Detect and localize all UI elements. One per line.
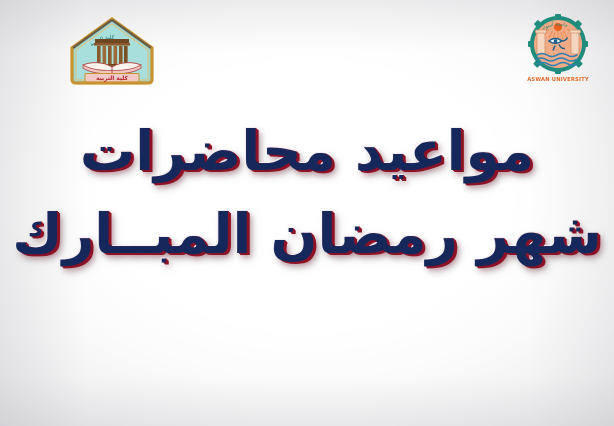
- slide-canvas: كلية التربية: [0, 0, 614, 426]
- aswan-university-logo: جامعة أسوان: [519, 13, 597, 83]
- headline-line-2: شهر رمضان المبــارك: [0, 207, 614, 262]
- headline-line-1: مواعيد محاضرات: [0, 124, 614, 179]
- aswan-logo-caption: ASWAN UNIVERSITY: [527, 77, 589, 83]
- headline-block: مواعيد محاضرات شهر رمضان المبــارك: [0, 124, 614, 262]
- education-logo-banner-text: كلية التربية: [96, 75, 128, 82]
- faculty-of-education-logo: كلية التربية: [68, 17, 156, 85]
- education-logo-banner: كلية التربية: [85, 74, 139, 83]
